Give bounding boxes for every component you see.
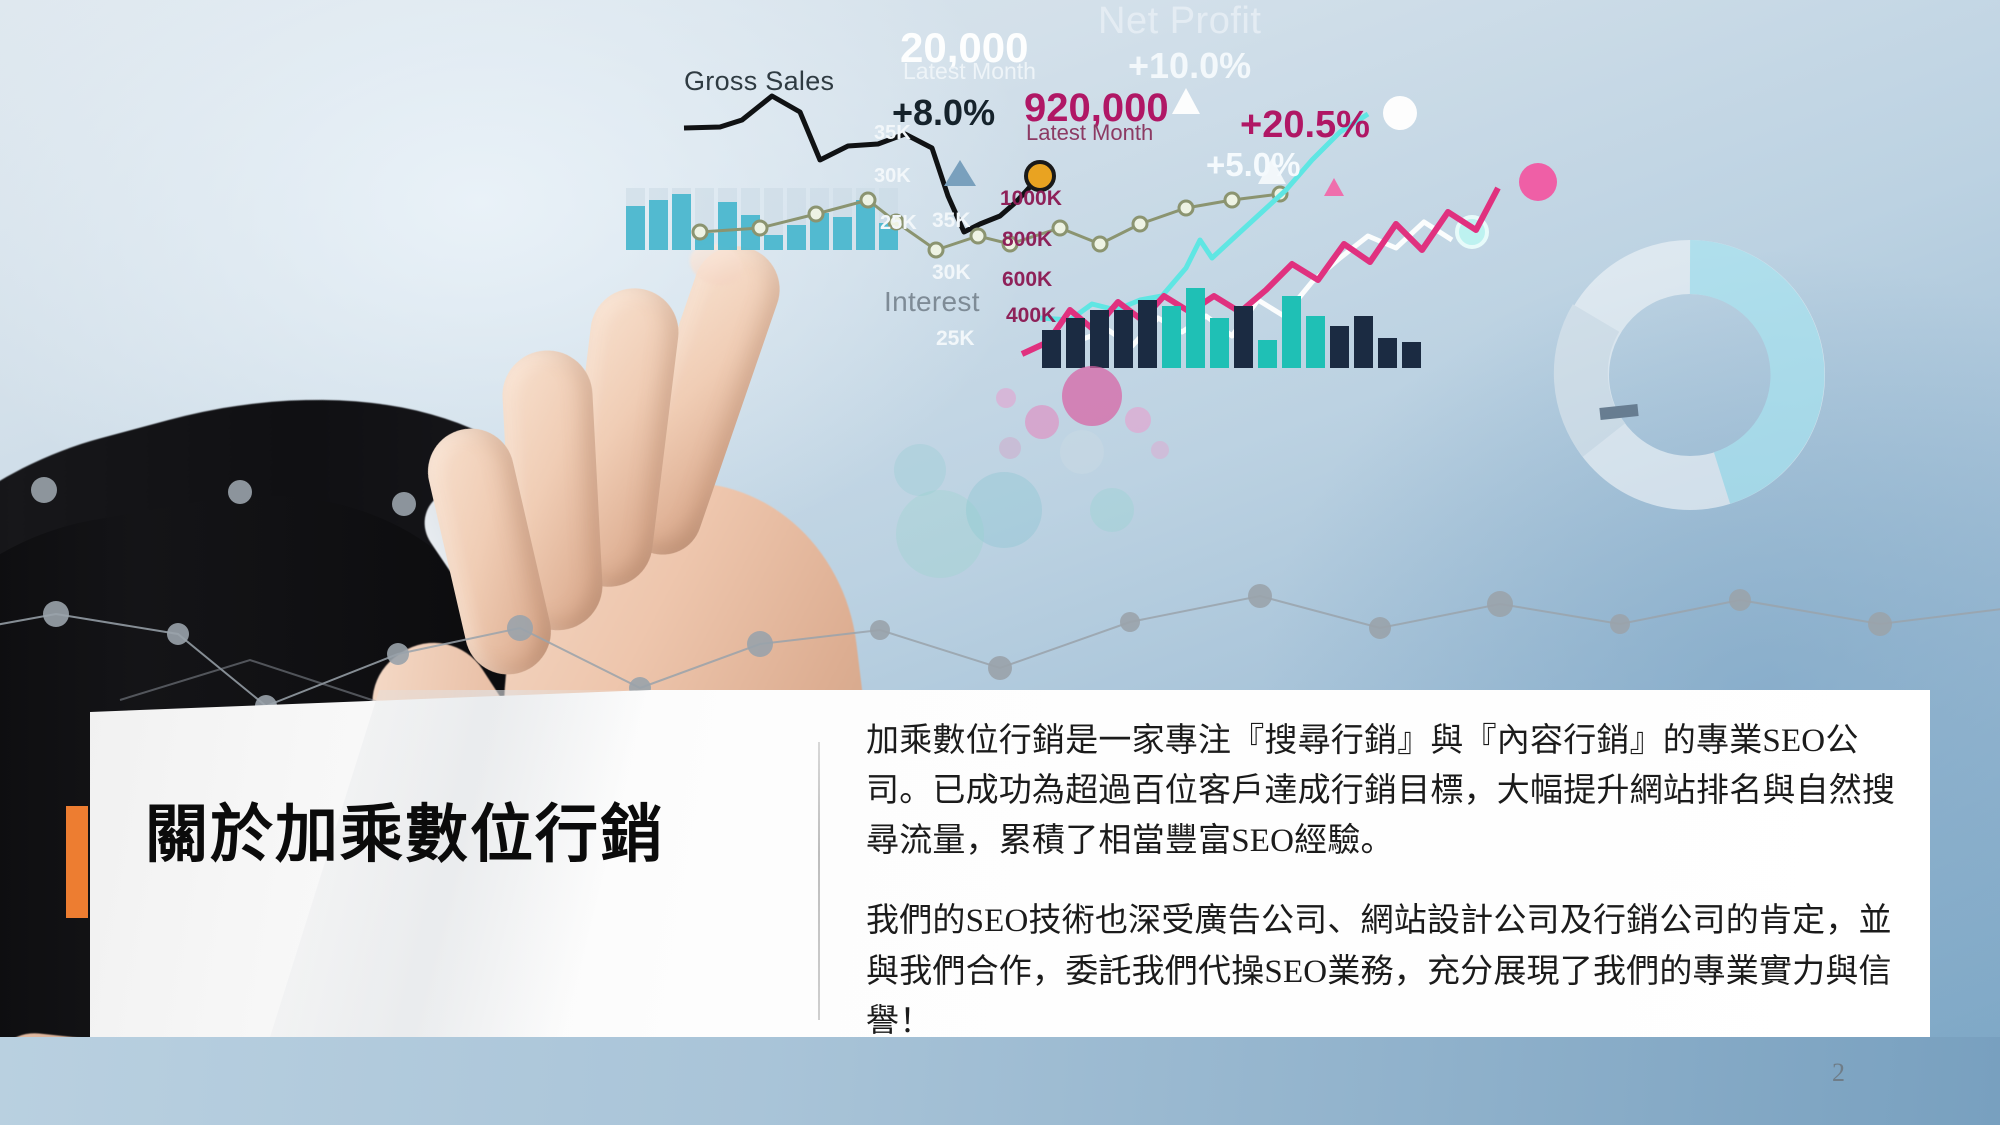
content-card-wrapper: 關於加乘數位行銷 加乘數位行銷是一家專注『搜尋行銷』與『內容行銷』的專業SEO公… — [0, 0, 2000, 1125]
body-paragraph-1: 加乘數位行銷是一家專注『搜尋行銷』與『內容行銷』的專業SEO公司。已成功為超過百… — [866, 716, 1896, 866]
body-text-column: 加乘數位行銷是一家專注『搜尋行銷』與『內容行銷』的專業SEO公司。已成功為超過百… — [866, 716, 1896, 1047]
body-paragraph-2: 我們的SEO技術也深受廣告公司、網站設計公司及行銷公司的肯定，並與我們合作，委託… — [866, 896, 1896, 1046]
page-title: 關於加乘數位行銷 — [145, 800, 775, 871]
vertical-divider — [818, 742, 820, 1020]
slide-canvas: Gross Sales Interest Net Profit 20,000 L… — [0, 0, 2000, 1125]
accent-bar — [66, 806, 88, 918]
